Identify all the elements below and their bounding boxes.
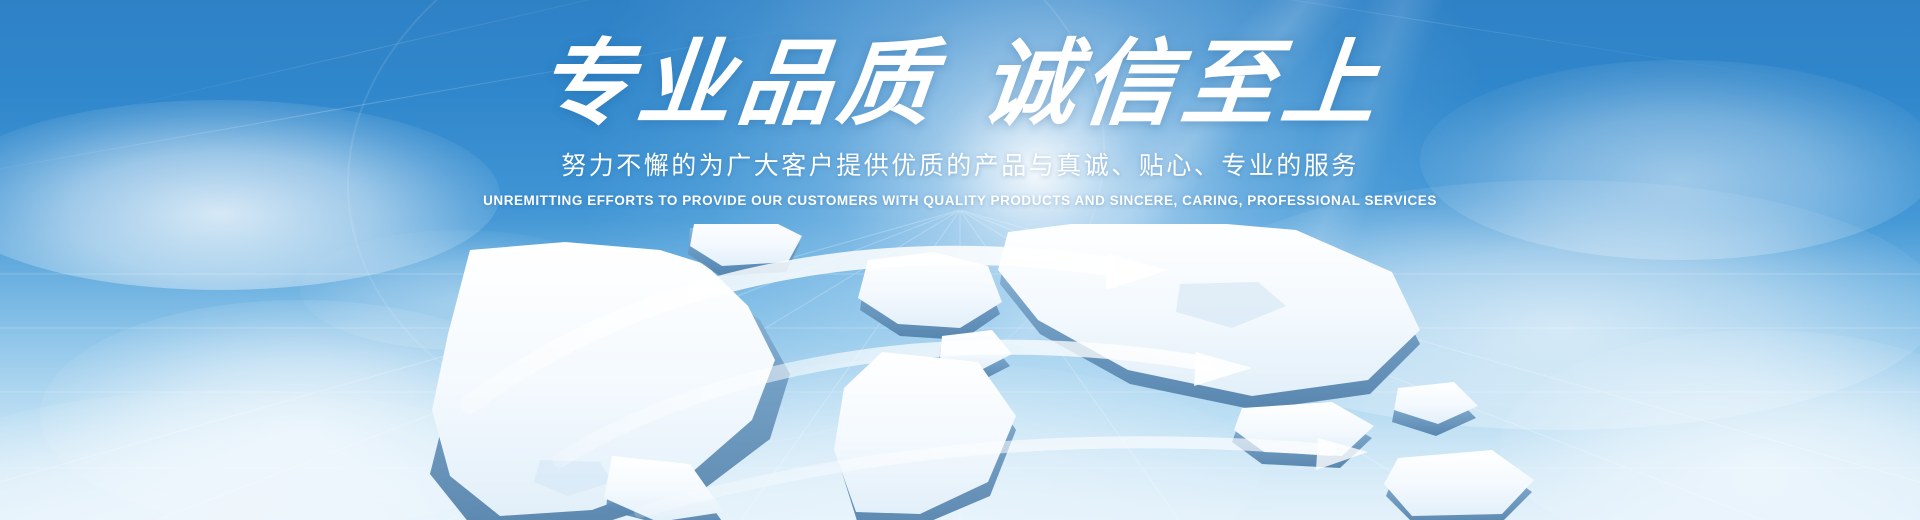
- headline: 专业品质诚信至上: [0, 34, 1920, 136]
- continent-south-america: [604, 456, 724, 520]
- cloud-shape: [1180, 180, 1920, 430]
- map-stage: [0, 220, 1920, 520]
- continent-africa: [834, 352, 1016, 520]
- cloud-shape: [1500, 330, 1920, 520]
- headline-part-1: 专业品质: [532, 30, 943, 139]
- subtitle-chinese: 努力不懈的为广大客户提供优质的产品与真诚、贴心、专业的服务: [0, 150, 1920, 183]
- cloud-shape: [300, 230, 620, 350]
- continent-greenland: [688, 224, 802, 276]
- continent-north-america: [430, 242, 790, 520]
- headline-part-2: 诚信至上: [976, 30, 1387, 139]
- hero-banner: 专业品质诚信至上 努力不懈的为广大客户提供优质的产品与真诚、贴心、专业的服务 U…: [0, 0, 1920, 520]
- subtitle-english: UNREMITTING EFFORTS TO PROVIDE OUR CUSTO…: [0, 193, 1920, 210]
- 3d-world-map: [0, 224, 1920, 520]
- continent-southeast-asia: [1232, 382, 1478, 468]
- continent-asia: [998, 224, 1420, 410]
- cloud-shape: [0, 390, 580, 520]
- perspective-grid: [0, 210, 1920, 520]
- continent-australia: [1384, 450, 1534, 520]
- continent-europe: [858, 252, 1012, 384]
- horizon-haze: [0, 220, 1920, 520]
- banner-copy: 专业品质诚信至上 努力不懈的为广大客户提供优质的产品与真诚、贴心、专业的服务 U…: [0, 34, 1920, 210]
- cloud-shape: [560, 360, 1260, 520]
- arc-arrows: [470, 254, 1368, 512]
- cloud-shape: [40, 300, 560, 520]
